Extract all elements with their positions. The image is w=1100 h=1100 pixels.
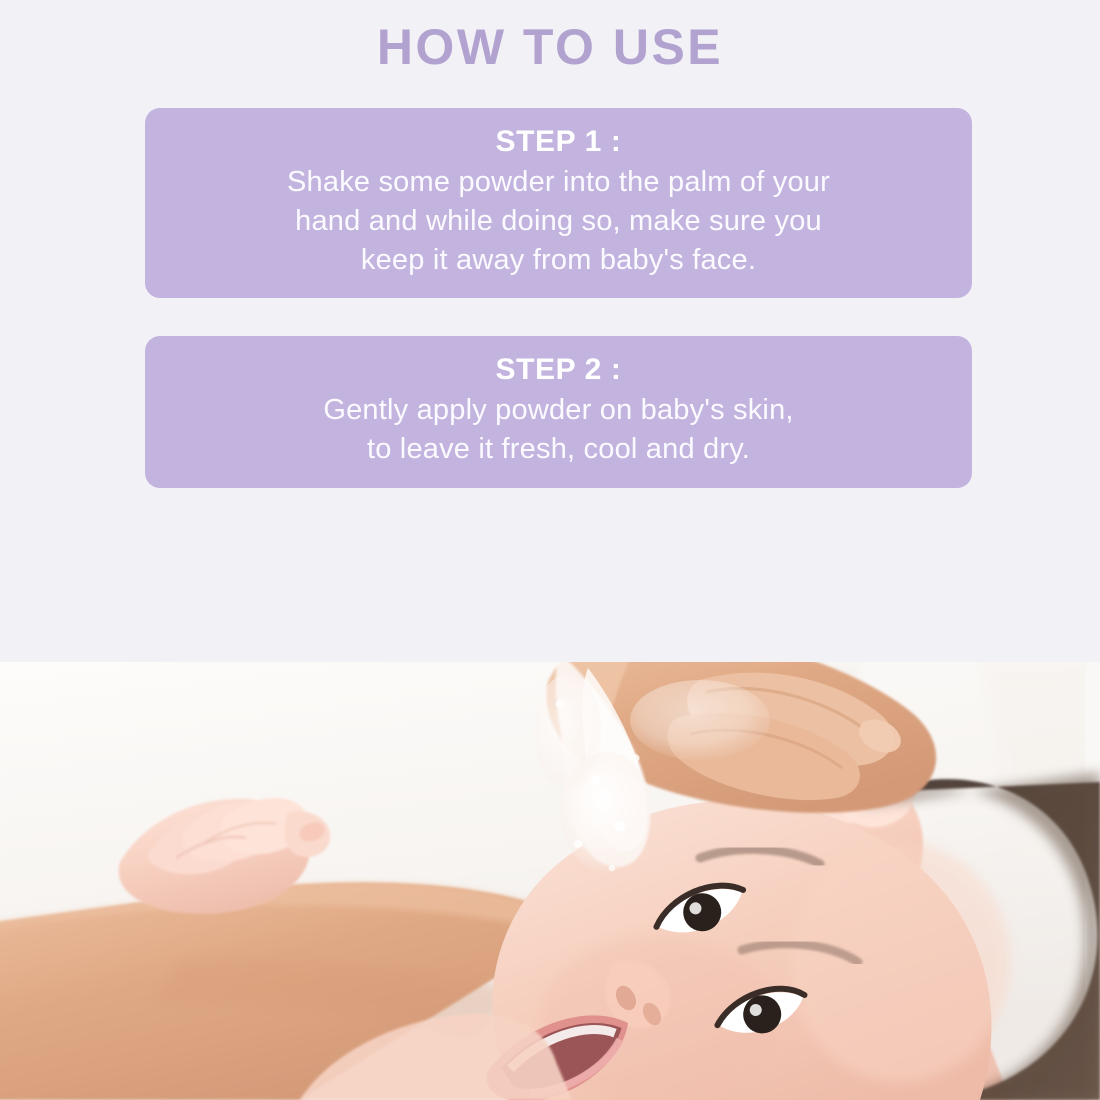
step-1-body: Shake some powder into the palm of your … (171, 163, 946, 280)
step-card-2: STEP 2 : Gently apply powder on baby's s… (145, 336, 972, 488)
step-1-line-1: Shake some powder into the palm of your (171, 163, 946, 202)
step-2-line-1: Gently apply powder on baby's skin, (171, 391, 946, 430)
step-card-1: STEP 1 : Shake some powder into the palm… (145, 108, 972, 298)
step-1-heading: STEP 1 : (171, 122, 946, 162)
step-2-body: Gently apply powder on baby's skin, to l… (171, 391, 946, 469)
baby-powder-photo (0, 662, 1100, 1100)
page-title: HOW TO USE (0, 18, 1100, 76)
step-1-line-3: keep it away from baby's face. (171, 241, 946, 280)
photo-illustration (0, 662, 1100, 1100)
step-2-line-2: to leave it fresh, cool and dry. (171, 430, 946, 469)
how-to-use-panel: HOW TO USE STEP 1 : Shake some powder in… (0, 0, 1100, 1100)
step-1-line-2: hand and while doing so, make sure you (171, 202, 946, 241)
step-2-heading: STEP 2 : (171, 350, 946, 390)
